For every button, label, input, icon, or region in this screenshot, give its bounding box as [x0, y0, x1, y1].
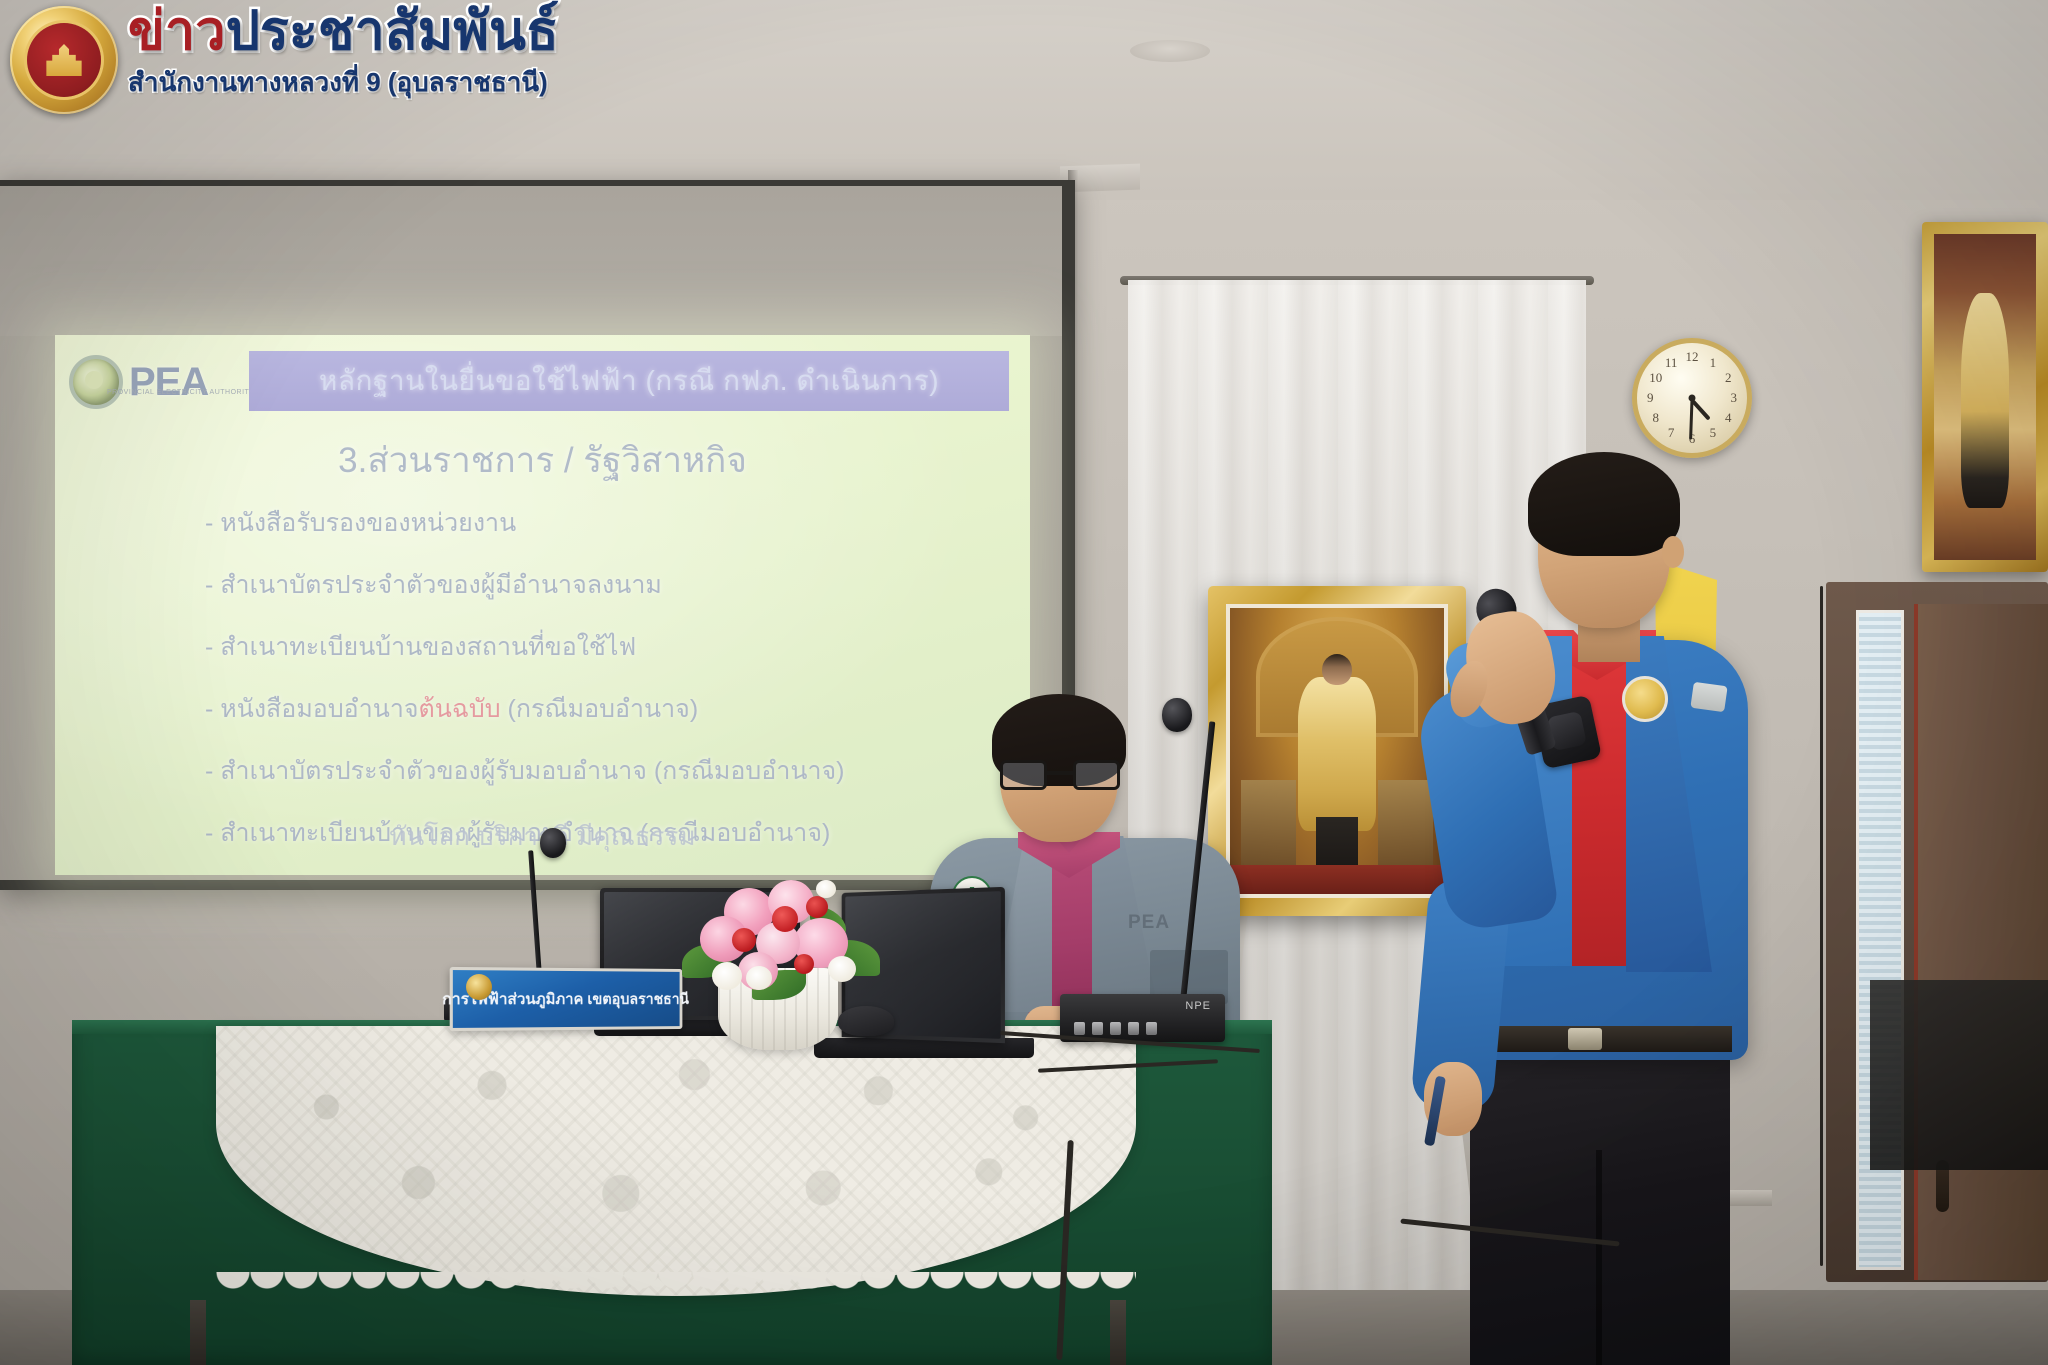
table-microphone-head[interactable] [540, 828, 566, 858]
dark-furniture [1870, 980, 2048, 1170]
mixer-knob[interactable] [1092, 1022, 1103, 1035]
department-of-highways-seal-icon [10, 6, 118, 114]
portrait-image [1230, 608, 1444, 894]
portrait-head [1322, 654, 1352, 685]
presenter-belt-buckle [1568, 1028, 1602, 1050]
portrait-table-left [1241, 780, 1297, 866]
table-leg-right [1110, 1300, 1126, 1365]
portrait-robe [1298, 677, 1375, 831]
slide-title: หลักฐานในยื่นขอใช้ไฟฟ้า (กรณี กฟภ. ดำเนิ… [319, 359, 939, 403]
presenter-chest-emblem-icon [1622, 676, 1668, 722]
list-item: - สำเนาบัตรประจำตัวของผู้รับมอบอำนาจ (กร… [205, 751, 995, 791]
watermark-subtitle: สำนักงานทางหลวงที่ 9 (อุบลราชธานี) [128, 62, 559, 103]
slide-heading: 3.ส่วนราชการ / รัฐวิสาหกิจ [55, 433, 1030, 488]
audio-mixer-box[interactable]: NPE [1060, 994, 1225, 1042]
presenter-trouser-split [1596, 1150, 1602, 1365]
watermark-brand-red: ข่าว [128, 1, 226, 61]
gooseneck-microphone-head[interactable] [1162, 698, 1192, 732]
watermark-text-block: ข่าวประชาสัมพันธ์ สำนักงานทางหลวงที่ 9 (… [128, 2, 559, 103]
mixer-knob[interactable] [1110, 1022, 1121, 1035]
portrait-mat [1226, 604, 1448, 898]
clock-number: 2 [1725, 370, 1732, 386]
clock-number: 10 [1649, 370, 1662, 386]
glasses-bridge [1047, 771, 1073, 775]
clock-center-pin [1689, 395, 1696, 402]
list-item: - หนังสือมอบอำนาจต้นฉบับ (กรณีมอบอำนาจ) [205, 689, 995, 729]
wall-portrait-figure [1961, 293, 2010, 508]
clock-number: 8 [1652, 410, 1659, 426]
pea-logo: PEA [69, 349, 244, 415]
mixer-knob[interactable] [1146, 1022, 1157, 1035]
pea-logo-subtext: PROVINCIAL ELECTRICITY AUTHORITY [107, 389, 254, 396]
door-panel[interactable] [1914, 604, 2048, 1280]
watermark-brand-line: ข่าวประชาสัมพันธ์ [128, 4, 559, 58]
list-item: - หนังสือรับรองของหน่วยงาน [205, 503, 995, 543]
seal-inner-disc [27, 23, 101, 97]
presenter-hair [1528, 452, 1680, 556]
clock-number: 11 [1665, 355, 1678, 371]
wall-portrait-image [1934, 234, 2036, 560]
wall-framed-portrait [1922, 222, 2048, 572]
clock-face: 12 1 2 3 4 5 6 7 8 9 10 11 [1637, 343, 1747, 453]
portrait-carpet [1230, 865, 1444, 894]
clock-number: 1 [1710, 355, 1717, 371]
projected-slide: PEA PROVINCIAL ELECTRICITY AUTHORITY หลั… [55, 335, 1030, 875]
door-side-window-blinds [1856, 610, 1904, 1270]
projection-screen-upper-band [0, 186, 1062, 336]
ceiling-vent-icon [1130, 40, 1210, 62]
list-item: - สำเนาทะเบียนบ้านของสถานที่ขอใช้ไฟ [205, 627, 995, 667]
seated-pea-uniform-text: PEA [1128, 912, 1170, 934]
news-watermark-header: ข่าวประชาสัมพันธ์ สำนักงานทางหลวงที่ 9 (… [10, 2, 570, 142]
pea-emblem-icon [69, 355, 123, 409]
mixer-knob[interactable] [1128, 1022, 1139, 1035]
rose-red [732, 928, 756, 952]
seal-temple-glyph [43, 44, 85, 76]
flower-white [816, 880, 836, 898]
flower-white [746, 966, 772, 990]
eyeglasses-icon [1000, 760, 1120, 790]
wall-cable [1820, 586, 1823, 1266]
watermark-brand-blue: ประชาสัมพันธ์ [226, 1, 559, 61]
wall-clock: 12 1 2 3 4 5 6 7 8 9 10 11 [1632, 338, 1752, 458]
clock-number: 7 [1668, 425, 1675, 441]
rose-red [772, 906, 798, 932]
flower-white [828, 956, 856, 982]
mixer-brand-label: NPE [1185, 1000, 1211, 1012]
nameplate-seal-icon [466, 974, 492, 1000]
glasses-lens-left [1000, 760, 1047, 790]
presenter-ear [1662, 536, 1684, 568]
mixer-knob[interactable] [1074, 1022, 1085, 1035]
rose-red [794, 954, 814, 974]
rose-red [806, 896, 828, 918]
list-item: - สำเนาบัตรประจำตัวของผู้มีอำนาจลงนาม [205, 565, 995, 605]
portrait-table-right [1378, 780, 1434, 866]
slide-title-bar: หลักฐานในยื่นขอใช้ไฟฟ้า (กรณี กฟภ. ดำเนิ… [249, 351, 1009, 411]
clock-number: 3 [1731, 390, 1738, 406]
flower-white [712, 962, 742, 990]
presenter-shoulder-patch [1690, 682, 1727, 712]
table-leg-left [190, 1300, 206, 1365]
flower-bouquet [676, 870, 886, 1000]
table-lace-scallop-edge [216, 1272, 1136, 1306]
clock-number: 9 [1647, 390, 1654, 406]
clock-number: 4 [1725, 410, 1732, 426]
clock-hour-hand [1691, 399, 1711, 421]
clock-number: 12 [1686, 349, 1699, 365]
presentation-room-photo: PEA PROVINCIAL ELECTRICITY AUTHORITY หลั… [0, 0, 2048, 1365]
clock-number: 5 [1710, 425, 1717, 441]
computer-mouse[interactable] [838, 1006, 894, 1036]
glasses-lens-right [1073, 760, 1120, 790]
